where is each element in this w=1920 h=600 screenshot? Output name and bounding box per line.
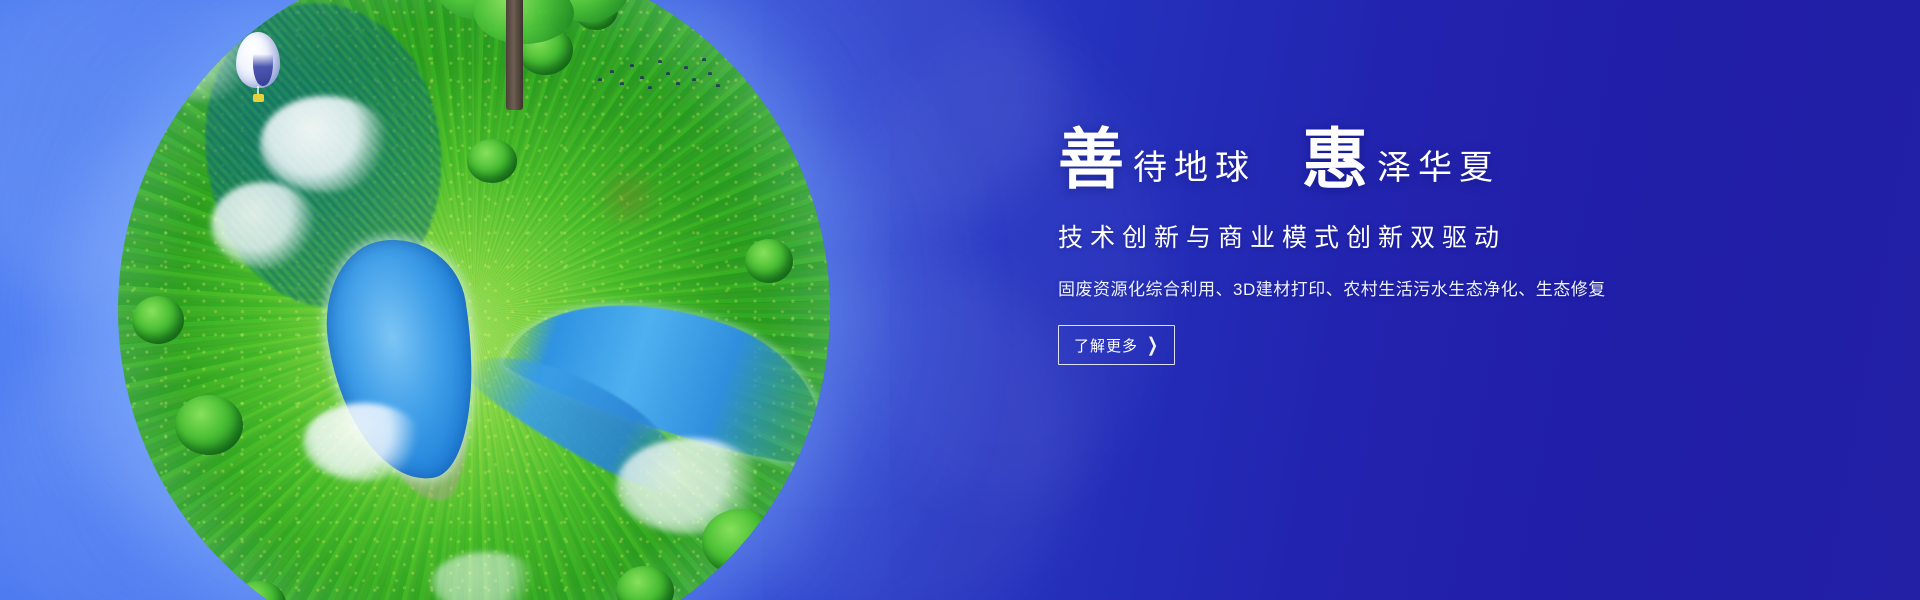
headline-part2-large: 惠 [1302,126,1369,192]
page-title: 善 待地球 惠 泽华夏 [1058,126,1678,192]
hot-air-balloon-icon [236,32,280,106]
description: 固废资源化综合利用、3D建材打印、农村生活污水生态净化、生态修复 [1058,275,1678,300]
headline-part2-small: 泽华夏 [1377,151,1500,192]
bird-flock-icon [596,52,721,94]
tree-cluster [745,239,793,283]
subtitle: 技术创新与商业模式创新双驱动 [1058,218,1678,254]
headline-part1-large: 善 [1058,126,1125,192]
headline-part1-small: 待地球 [1133,151,1256,192]
tree-cluster [467,139,517,183]
cloud-puff [260,96,390,192]
hero-banner: 善 待地球 惠 泽华夏 技术创新与商业模式创新双驱动 固废资源化综合利用、3D建… [0,0,1920,600]
hero-content: 善 待地球 惠 泽华夏 技术创新与商业模式创新双驱动 固废资源化综合利用、3D建… [1058,126,1678,365]
tree-cluster [132,296,184,344]
tree-cluster [175,395,243,455]
learn-more-label: 了解更多 [1074,335,1138,356]
chevron-right-icon: ❯ [1147,333,1159,356]
learn-more-button[interactable]: 了解更多 ❯ [1058,325,1175,365]
earth-patch [588,168,668,228]
cloud-puff [303,403,423,481]
tree-cluster [702,509,778,575]
cloud-puff [211,182,316,268]
